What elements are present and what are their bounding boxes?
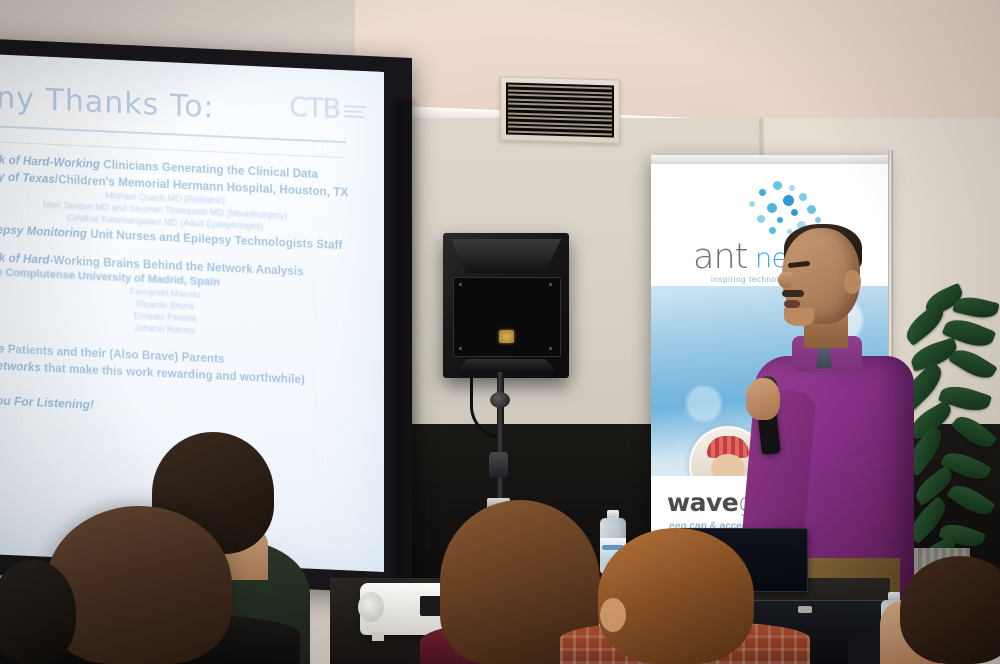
ctb-logo-lines (344, 102, 366, 118)
ctb-logo-mark: CTB (289, 92, 340, 125)
speaker-grill (453, 277, 561, 357)
projector-lens-icon (358, 592, 384, 622)
speaker-stand-knob (490, 392, 510, 408)
presenter-moustache (782, 290, 804, 297)
presenter-chin (784, 308, 814, 326)
presenter-hand (746, 378, 780, 420)
laptop-front-webcam-icon (798, 606, 812, 613)
presenter-nose (778, 272, 792, 288)
ceiling (355, 0, 1000, 118)
vent-louvers (506, 82, 614, 137)
speaker-bass-port (455, 359, 557, 372)
pa-speaker-cabinet (443, 233, 569, 378)
presenter-ear (844, 270, 861, 294)
presenter-mouth (784, 300, 800, 308)
speaker-horn (451, 239, 561, 273)
attendee-5-ear (600, 598, 626, 632)
speaker-stand-clamp (489, 452, 508, 478)
hvac-vent (500, 76, 620, 143)
attendee-2-head (46, 506, 232, 664)
banner-top-rail (651, 155, 891, 164)
ctb-logo: CTB (289, 92, 366, 126)
attendee-5-head (598, 528, 754, 664)
slide-bullet-list: A Network of Hard-Working Clinicians Gen… (0, 152, 366, 423)
yamaha-logo-icon (499, 330, 514, 343)
slide-secondary-rule (0, 139, 344, 158)
photo-scene: CTB Many Thanks To: A Network of Hard-Wo… (0, 0, 1000, 664)
projector-foot (372, 632, 384, 641)
corner-shadow (395, 100, 421, 580)
